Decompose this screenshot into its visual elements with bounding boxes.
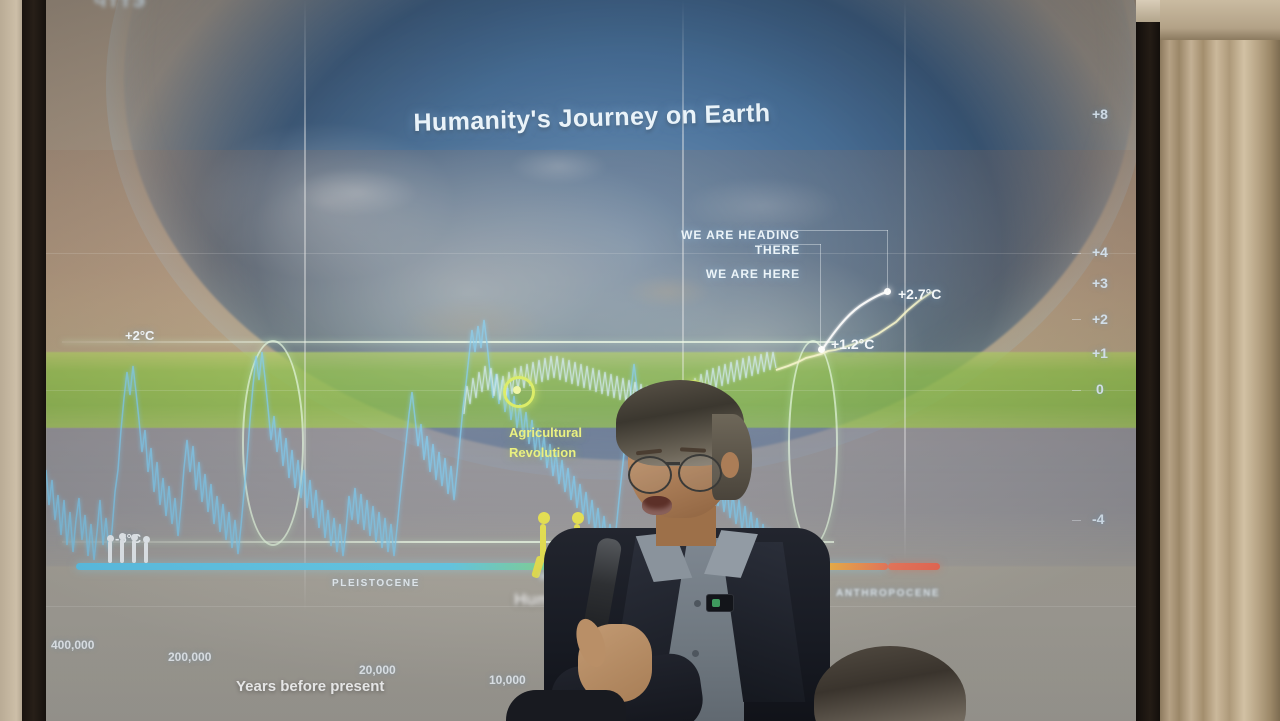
ytick-mark [1072,390,1081,391]
industrial-warming-ramp [776,292,932,370]
epoch-label-anthropocene: ANTHROPOCENE [836,588,940,599]
leader-line-here [820,244,821,348]
ytick-mark [1072,520,1081,521]
x-axis-label: Years before present [236,678,384,695]
presenter-glasses-right [678,454,722,492]
presenter-mouth [642,496,672,515]
ytick-minus4: -4 [1092,511,1104,527]
ytick-plus8: +8 [1092,106,1108,122]
presenter-glasses-bridge [666,462,680,465]
audience-member [806,646,982,721]
presenter-ear [721,452,739,478]
ytick-mark [1072,319,1081,320]
epoch-label-pleistocene: PLEISTOCENE [332,578,420,589]
shirt-button [692,650,699,657]
audience-head [814,646,966,721]
screen-frame-left [22,0,48,721]
xtick-400000: 400,000 [51,638,94,652]
window-curtain [1160,0,1280,721]
leader-line-there [887,230,888,292]
annotation-we-are-here: WE ARE HERE [672,267,800,282]
annotation-heading-there: WE ARE HEADING THERE [672,228,800,259]
ytick-plus2: +2 [1092,311,1108,327]
value-heading-there: +2.7°C [898,286,941,302]
curtain-rail [1160,0,1280,40]
audience-shoulder-left [506,690,626,721]
presenter [516,378,846,721]
value-here: +1.2°C [831,336,874,352]
ytick-plus1: +1 [1092,345,1108,361]
xtick-20000: 20,000 [359,663,396,677]
ytick-plus4: +4 [1092,244,1108,260]
anthropocene-segment [888,563,940,570]
shirt-button [694,600,701,607]
ytick-zero: 0 [1096,381,1104,397]
presenter-clip-device [706,594,734,612]
ytick-mark [1072,253,1081,254]
xtick-200000: 200,000 [168,650,211,664]
presentation-photo: ЧTTЭ Humanity's Journey on Earth +2°C -5… [0,0,1280,721]
ytick-plus3: +3 [1092,275,1108,291]
